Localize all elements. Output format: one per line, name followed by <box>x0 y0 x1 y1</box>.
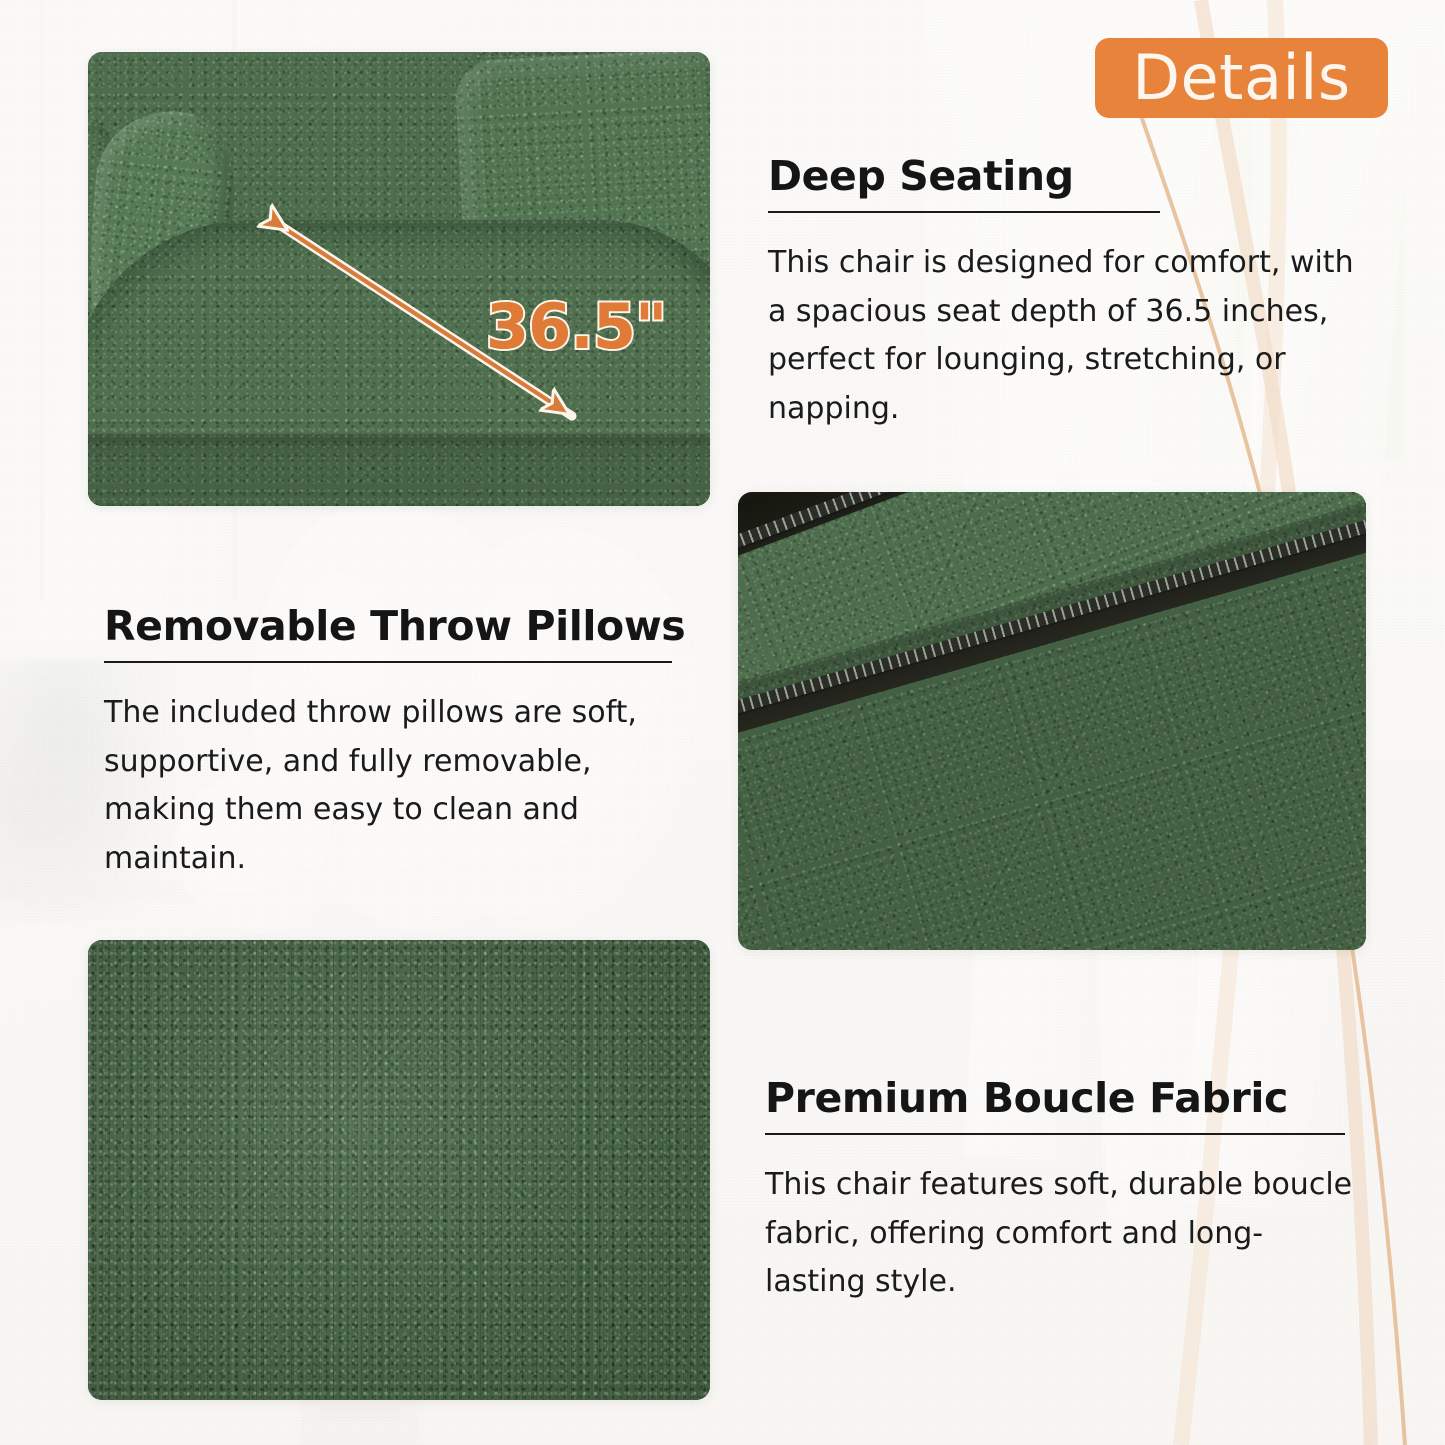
feature-body: This chair features soft, durable boucle… <box>765 1161 1355 1307</box>
dimension-label: 36.5" <box>486 290 666 363</box>
feature-body: This chair is designed for comfort, with… <box>768 239 1368 433</box>
fabric-swatch-photo <box>88 940 710 1400</box>
details-infographic: Details 36.5" <box>0 0 1445 1445</box>
feature-removable-throw-pillows: Removable Throw Pillows The included thr… <box>104 605 684 883</box>
feature-title-rule <box>768 211 1160 213</box>
feature-title: Deep Seating <box>768 155 1368 198</box>
feature-deep-seating: Deep Seating This chair is designed for … <box>768 155 1368 433</box>
feature-body: The included throw pillows are soft, sup… <box>104 689 684 883</box>
swatch-vignette <box>88 940 710 1400</box>
feature-title: Removable Throw Pillows <box>104 605 684 648</box>
feature-premium-boucle-fabric: Premium Boucle Fabric This chair feature… <box>765 1077 1355 1307</box>
zipper-detail-photo <box>738 492 1366 950</box>
feature-title-rule <box>104 661 672 663</box>
chair-seat-photo: 36.5" 36.5" <box>88 52 710 506</box>
details-badge: Details <box>1095 38 1388 118</box>
details-badge-label: Details <box>1132 47 1350 109</box>
dimension-arrow-icon <box>88 52 710 506</box>
feature-title: Premium Boucle Fabric <box>765 1077 1355 1120</box>
zipper-scene <box>738 492 1366 950</box>
feature-title-rule <box>765 1133 1345 1135</box>
